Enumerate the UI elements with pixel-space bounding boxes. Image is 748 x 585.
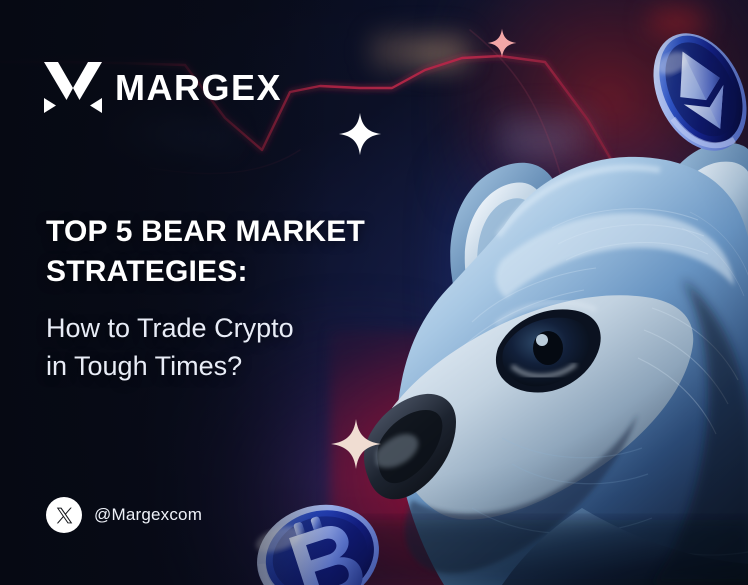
social-handle-text: @Margexcom (94, 505, 202, 525)
sparkle-star-pink-topright (487, 28, 517, 58)
headline-line-1: TOP 5 BEAR MARKET (46, 215, 365, 248)
sparkle-star-cream-bottom (330, 418, 382, 470)
social-handle-group[interactable]: @Margexcom (46, 497, 202, 533)
subhead-line-1: How to Trade Crypto (46, 313, 294, 343)
ethereum-coin-icon (648, 18, 748, 166)
margex-logo[interactable]: MARGEX (42, 58, 282, 118)
margex-wordmark: MARGEX (115, 70, 282, 106)
x-twitter-icon[interactable] (46, 497, 82, 533)
banner-root: MARGEX TOP 5 BEAR MARKET STRATEGIES: How… (0, 0, 748, 585)
subhead-line-2: in Tough Times? (46, 351, 242, 381)
copy-block: TOP 5 BEAR MARKET STRATEGIES: How to Tra… (46, 212, 446, 385)
margex-m-logo-icon (42, 58, 104, 118)
sparkle-star-white-top (338, 112, 382, 156)
page-title: TOP 5 BEAR MARKET STRATEGIES: (46, 212, 446, 292)
page-subtitle: How to Trade Crypto in Tough Times? (46, 309, 446, 386)
headline-line-2: STRATEGIES: (46, 255, 248, 288)
